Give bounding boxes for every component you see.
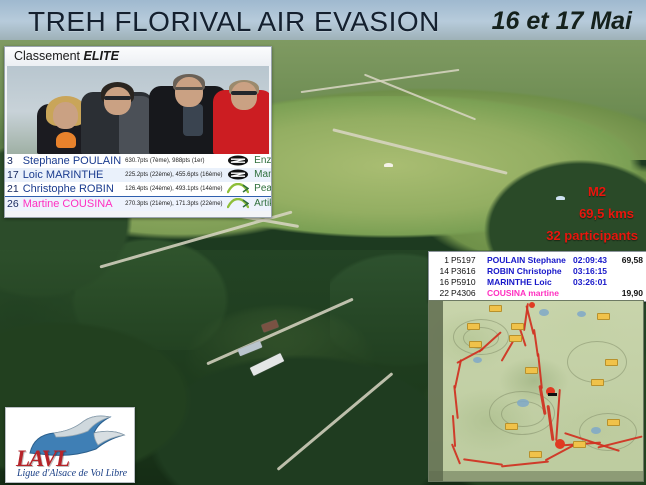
lavl-logo[interactable]: LAVL Ligue d'Alsace de Vol Libre	[5, 407, 135, 483]
classement-rank: 17	[5, 168, 21, 182]
result-time	[572, 287, 614, 298]
table-row[interactable]: 16 P5910 MARINTHE Loic 03:26:01	[432, 276, 644, 287]
result-name: COUSINA martine	[486, 287, 572, 298]
map-place-label	[511, 323, 524, 330]
eyeglasses-icon	[175, 87, 203, 90]
classement-name: Stephane POULAIN	[21, 154, 123, 168]
pilots-group-photo	[7, 66, 269, 154]
classement-rank: 3	[5, 154, 21, 168]
result-name: MARINTHE Loic	[486, 276, 572, 287]
map-place-label	[591, 379, 604, 386]
table-row[interactable]: 26 Martine COUSINA 270.3pts (21ème), 171…	[5, 197, 272, 212]
classement-rank: 21	[5, 182, 21, 197]
paraglider-wing-icon	[384, 163, 393, 167]
result-bib: P3616	[450, 265, 486, 276]
table-row[interactable]: 14 P3616 ROBIN Christophe 03:16:15	[432, 265, 644, 276]
result-time: 03:26:01	[572, 276, 614, 287]
classement-heading-strong: ELITE	[83, 49, 118, 63]
classement-table: 3 Stephane POULAIN 630.7pts (7ème), 988p…	[5, 154, 272, 211]
niviuk-logo-icon	[227, 183, 249, 194]
stats-participants: 32 participants	[546, 228, 638, 243]
table-row[interactable]: 3 Stephane POULAIN 630.7pts (7ème), 988p…	[5, 154, 272, 168]
event-date: 16 et 17 Mai	[492, 7, 632, 36]
result-time: 02:09:43	[572, 254, 614, 265]
map-waypoint-marker	[548, 393, 557, 396]
results-table: 1 P5197 POULAIN Stephane 02:09:43 69,58 …	[432, 254, 644, 298]
page-title: TREH FLORIVAL AIR EVASION	[28, 6, 440, 38]
classement-wing-label: Mantra 4	[254, 169, 272, 180]
classement-points: 270.3pts (21ème), 171.3pts (22ème)	[123, 197, 224, 212]
route-map-inset[interactable]	[428, 300, 644, 482]
map-contour	[567, 341, 627, 383]
map-place-label	[529, 451, 542, 458]
result-time: 03:16:15	[572, 265, 614, 276]
niviuk-logo-icon	[227, 198, 249, 209]
result-name: ROBIN Christophe	[486, 265, 572, 276]
map-edge-shadow	[429, 471, 643, 481]
classement-points: 225.2pts (22ème), 455.6pts (16ème)	[123, 168, 224, 182]
poster-canvas: TREH FLORIVAL AIR EVASION 16 et 17 Mai C…	[0, 0, 646, 485]
classement-points: 126.4pts (24ème), 493.1pts (14ème)	[123, 182, 224, 197]
photo-person-scarf	[183, 104, 203, 136]
result-score	[614, 265, 644, 276]
table-row[interactable]: 21 Christophe ROBIN 126.4pts (24ème), 49…	[5, 182, 272, 197]
map-place-label	[607, 419, 620, 426]
map-waypoint	[529, 302, 535, 308]
map-lake	[591, 427, 601, 434]
table-row[interactable]: 22 P4306 COUSINA martine 19,90	[432, 287, 644, 298]
result-rank: 14	[432, 265, 450, 276]
table-row[interactable]: 17 Loic MARINTHE 225.2pts (22ème), 455.6…	[5, 168, 272, 182]
map-lake	[473, 357, 482, 363]
map-waypoint	[555, 439, 565, 449]
classement-panel: Classement ELITE	[4, 46, 272, 218]
logo-subtitle: Ligue d'Alsace de Vol Libre	[12, 468, 132, 479]
classement-wing: Mantra 4	[225, 168, 272, 182]
classement-rank: 26	[5, 197, 21, 212]
stats-distance: 69,5 kms	[546, 206, 634, 221]
result-bib: P4306	[450, 287, 486, 298]
result-score	[614, 276, 644, 287]
classement-name: Loic MARINTHE	[21, 168, 123, 182]
table-row[interactable]: 1 P5197 POULAIN Stephane 02:09:43 69,58	[432, 254, 644, 265]
map-place-label	[597, 313, 610, 320]
photo-person-detail	[56, 132, 76, 148]
ozone-logo-icon	[227, 169, 249, 180]
map-lake	[539, 309, 549, 316]
photo-person-head	[104, 87, 131, 115]
sunglasses-icon	[231, 91, 257, 95]
map-place-label	[489, 305, 502, 312]
result-score: 19,90	[614, 287, 644, 298]
map-place-label	[605, 359, 618, 366]
classement-wing-label: Peak 3	[254, 183, 272, 194]
photo-person-2	[79, 82, 157, 154]
photo-person-head	[53, 102, 78, 129]
photo-person-4	[213, 80, 269, 154]
map-lake	[577, 311, 586, 317]
results-panel: 1 P5197 POULAIN Stephane 02:09:43 69,58 …	[428, 251, 646, 302]
classement-wing-label: Enzo 2	[254, 155, 272, 166]
result-name: POULAIN Stephane	[486, 254, 572, 265]
map-place-label	[509, 335, 522, 342]
map-lake	[517, 399, 529, 407]
result-rank: 1	[432, 254, 450, 265]
stats-category: M2	[546, 184, 606, 199]
classement-points: 630.7pts (7ème), 988pts (1er)	[123, 154, 224, 168]
result-bib: P5197	[450, 254, 486, 265]
photo-person-head	[175, 77, 203, 107]
result-score: 69,58	[614, 254, 644, 265]
map-place-label	[505, 423, 518, 430]
classement-heading: Classement ELITE	[5, 47, 271, 66]
classement-wing: Artik 3	[225, 197, 272, 212]
classement-heading-prefix: Classement	[14, 49, 83, 63]
event-stats: M2 69,5 kms 32 participants	[546, 184, 638, 250]
map-place-label	[573, 441, 586, 448]
result-rank: 16	[432, 276, 450, 287]
map-place-label	[467, 323, 480, 330]
result-bib: P5910	[450, 276, 486, 287]
classement-name: Martine COUSINA	[21, 197, 123, 212]
sunglasses-icon	[104, 96, 131, 100]
map-place-label	[525, 367, 538, 374]
map-place-label	[469, 341, 482, 348]
classement-wing-label: Artik 3	[254, 198, 272, 209]
classement-name: Christophe ROBIN	[21, 182, 123, 197]
result-rank: 22	[432, 287, 450, 298]
photo-person-head	[231, 82, 257, 110]
map-edge-shadow	[429, 301, 443, 481]
ozone-logo-icon	[227, 155, 249, 166]
classement-wing: Enzo 2	[225, 154, 272, 168]
classement-wing: Peak 3	[225, 182, 272, 197]
